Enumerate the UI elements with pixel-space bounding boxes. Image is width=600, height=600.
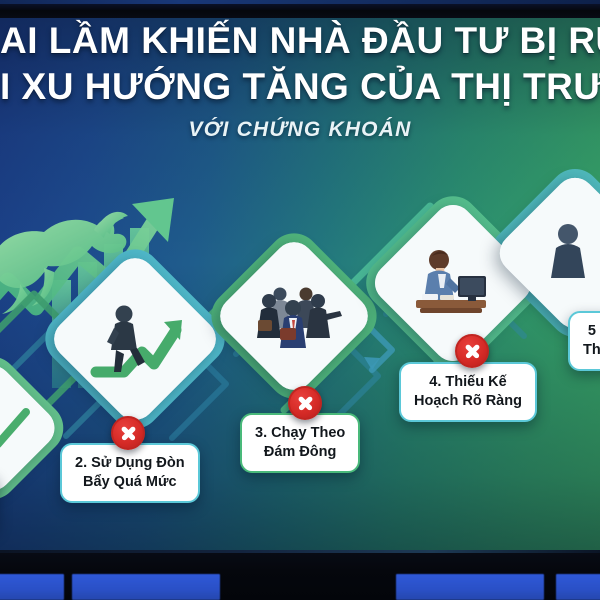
step-5-label-line-1: 5 [583,322,600,341]
screenshot-root: AI LẦM KHIẾN NHÀ ĐẦU TƯ BỊ RỦ I XU HƯỚNG… [0,0,600,600]
step-3-label[interactable]: 3. Chạy Theo Đám Đông [240,413,360,473]
step-4-label-line-2: Hoạch Rõ Ràng [414,392,522,411]
step-2-label[interactable]: 2. Sử Dụng Đòn Bẩy Quá Mức [60,443,200,503]
crowd-of-businesspeople-icon [236,258,352,374]
step-4-label-line-1: 4. Thiếu Kế [414,373,522,392]
step-5-label[interactable]: 5 Th [568,311,600,371]
step-4-label[interactable]: 4. Thiếu Kế Hoạch Rõ Ràng [399,362,537,422]
monitor-top-bezel-highlight [0,0,600,4]
step-5-label-line-2: Th [583,341,600,360]
step-2-label-line-1: 2. Sử Dụng Đòn [75,454,185,473]
step-3-label-line-1: 3. Chạy Theo [255,424,345,443]
monitor-top-bezel [0,0,600,18]
foreground-block-2 [72,574,220,600]
step-3-label-line-2: Đám Đông [255,443,345,462]
step-2-error-icon [111,416,145,450]
man-at-desk-with-monitor-icon [392,222,514,344]
monitor-bottom-bezel-highlight [0,550,600,553]
foreground-block-1 [0,574,64,600]
foreground-block-3 [396,574,544,600]
monitor-bottom-bezel [0,550,600,600]
step-4-error-icon [455,334,489,368]
businessman-on-rising-arrow-icon [72,276,198,402]
foreground-block-4 [556,574,600,600]
step-3-error-icon [288,386,322,420]
step-2-label-line-2: Bẩy Quá Mức [75,473,185,492]
